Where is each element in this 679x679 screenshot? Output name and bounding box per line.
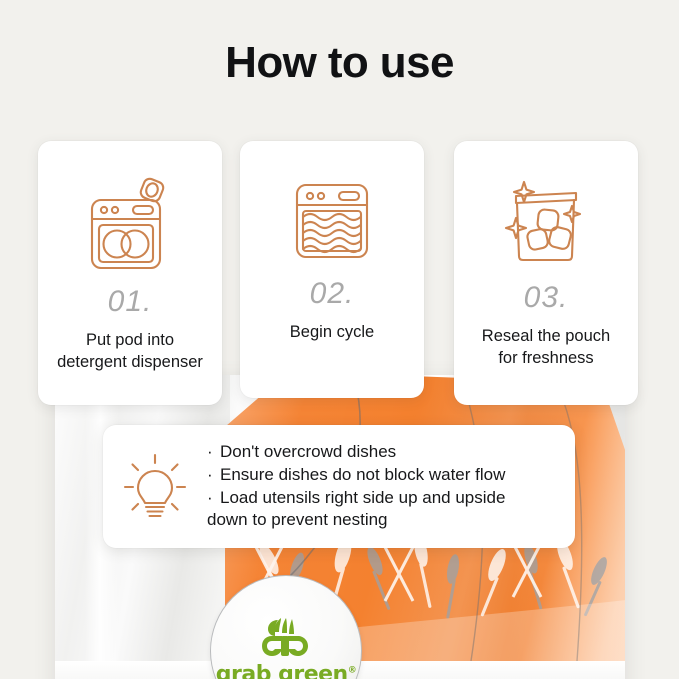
step-number-2: 02. — [310, 279, 355, 309]
sprout-leaf-icon — [256, 616, 316, 660]
dishwasher-water-cycle-icon — [282, 165, 382, 277]
step-label-2: Begin cycle — [282, 322, 382, 344]
step-number-1: 01. — [108, 287, 153, 317]
tip-item-2: · Ensure dishes do not block water flow — [207, 464, 561, 487]
tip-bullet-2: · — [207, 464, 220, 487]
tips-box: · Don't overcrowd dishes · Ensure dishes… — [103, 425, 575, 548]
resealable-pouch-sparkle-icon — [494, 163, 598, 281]
tip-text-1: Don't overcrowd dishes — [220, 441, 396, 464]
step-label-1: Put pod into detergent dispenser — [49, 330, 211, 374]
brand-name-text: grab green — [216, 662, 348, 679]
step-label-3-line1: Reseal the pouch — [482, 326, 610, 348]
step-card-1: 01. Put pod into detergent dispenser — [38, 141, 222, 405]
page-title: How to use — [0, 38, 679, 88]
dishwasher-with-pod-icon — [78, 167, 182, 285]
registered-mark: ® — [348, 665, 357, 675]
step-label-1-line1: Put pod into — [57, 330, 203, 352]
step-label-2-line1: Begin cycle — [290, 322, 374, 344]
step-label-1-line2: detergent dispenser — [57, 352, 203, 374]
tip-bullet-3: · — [207, 487, 220, 510]
tip-text-2: Ensure dishes do not block water flow — [220, 464, 505, 487]
step-label-3: Reseal the pouch for freshness — [474, 326, 618, 370]
brand-name: grab green® — [216, 662, 356, 679]
tip-item-3: · Load utensils right side up and upside — [207, 487, 561, 510]
lightbulb-icon — [103, 451, 207, 523]
how-to-use-infographic: grab green® How to use — [0, 0, 679, 679]
tip-text-3: Load utensils right side up and upside — [220, 487, 505, 510]
tips-list: · Don't overcrowd dishes · Ensure dishes… — [207, 441, 575, 531]
step-card-3: 03. Reseal the pouch for freshness — [454, 141, 638, 405]
tip-bullet-1: · — [207, 441, 220, 464]
tip-item-1: · Don't overcrowd dishes — [207, 441, 561, 464]
step-number-3: 03. — [524, 283, 569, 313]
step-label-3-line2: for freshness — [482, 348, 610, 370]
step-card-2: 02. Begin cycle — [240, 141, 424, 398]
tip-text-3-continuation: down to prevent nesting — [207, 509, 561, 532]
